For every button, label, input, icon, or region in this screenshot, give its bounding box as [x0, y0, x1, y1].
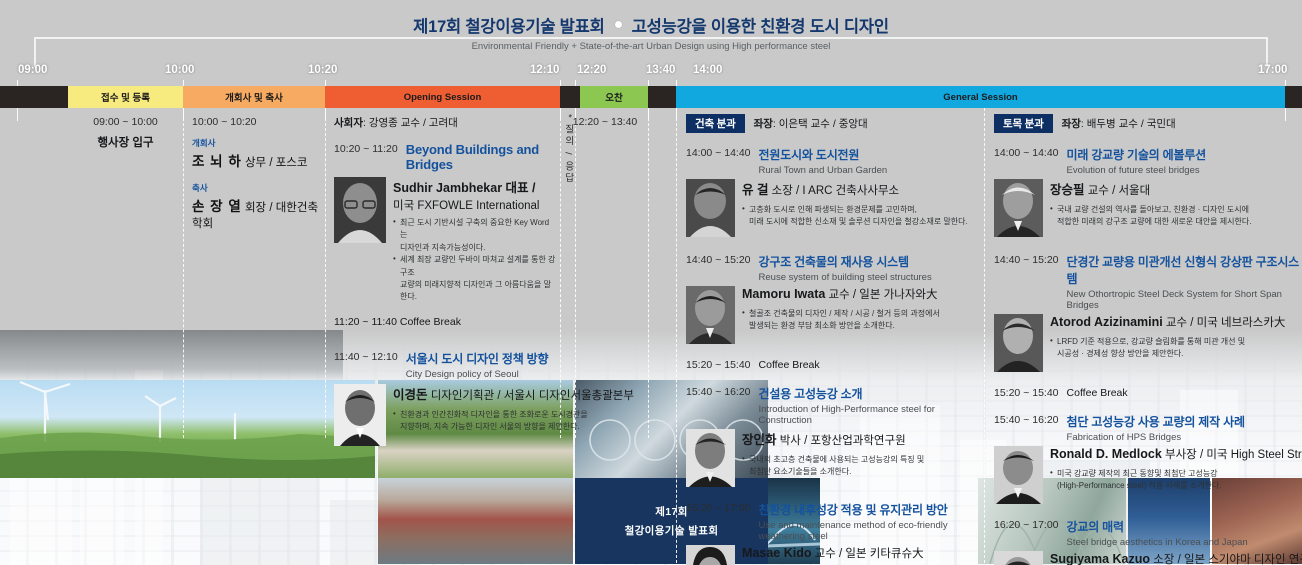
tick-1000: 10:00: [165, 64, 194, 76]
talk-row: 14:40 ~ 15:20 단경간 교량용 미관개선 신형식 강상판 구조시스템…: [994, 253, 1299, 311]
ceremony-time: 10:00 ~ 10:20: [192, 116, 322, 128]
talk-row: 16:20 ~ 17:00 강교의 매력 Steel bridge aesthe…: [994, 518, 1299, 548]
coffee-row: 15:20 ~ 15:40 Coffee Break: [686, 359, 978, 371]
talk-bullets: 국내외 초고층 건축물에 사용되는 고성능강의 특징 및 최첨단 요소기술들을 …: [742, 454, 978, 479]
registration-place: 행사장 입구: [68, 134, 183, 150]
column-lunch: 12:20 ~ 13:40: [580, 108, 648, 128]
talk-time: 14:40 ~ 15:20: [686, 253, 751, 266]
tick-1400: 14:00: [693, 64, 722, 76]
speaker-portrait: [686, 545, 735, 565]
talk-bullets: 친환경과 인간친화적 디자인을 통한 조화로운 도시경관을 지향하며, 지속 가…: [393, 409, 634, 434]
talk-row: 14:40 ~ 15:20 강구조 건축물의 재사용 시스템 Reuse sys…: [686, 253, 978, 283]
column-opening-session: 사회자: 강영종 교수 / 고려대 10:20 ~ 11:20 Beyond B…: [334, 108, 556, 446]
speaker-portrait: [994, 446, 1043, 504]
speaker-portrait: [686, 286, 735, 344]
ceremony-role-2: 축사: [192, 182, 322, 194]
speaker-portrait: [334, 177, 386, 243]
coffee-label: Coffee Break: [1067, 387, 1128, 399]
opening-coffee-break: 11:20 ~ 11:40 Coffee Break: [334, 316, 556, 328]
talk-title-kr: 건설용 고성능강 소개: [759, 385, 978, 402]
civil-chair: 좌장: 배두병 교수 / 국민대: [1062, 116, 1176, 131]
ceremony-role-1: 개회사: [192, 137, 322, 149]
speaker-name: Mamoru Iwata 교수 / 일본 가나자와大: [742, 286, 978, 302]
poster-root: 제17회 철강이용기술 발표회 제17회 철강이용기술 발표회 고성능강을 이용…: [0, 0, 1302, 565]
speaker-portrait: [994, 551, 1043, 565]
talk-title-en: Rural Town and Urban Garden: [759, 165, 888, 176]
talk-time: 15:40 ~ 16:20: [994, 413, 1059, 426]
talk-row: 14:00 ~ 14:40 미래 강교량 기술의 에볼루션 Evolution …: [994, 146, 1299, 176]
column-registration: 09:00 ~ 10:00 행사장 입구: [68, 108, 183, 150]
talk-title-en: City Design policy of Seoul: [406, 369, 549, 380]
tick-1210: 12:10: [530, 64, 559, 76]
bar-general-session[interactable]: General Session: [676, 86, 1285, 108]
lunch-time: 12:20 ~ 13:40: [562, 116, 648, 128]
civil-chip: 토목 분과: [994, 114, 1053, 133]
speaker-name: Sudhir Jambhekar 대표 /: [393, 177, 556, 196]
talk-bullets: 최근 도시 기반시설 구축의 중요한 Key Word는 디자인과 지속가능성이…: [393, 217, 556, 304]
speaker-name: Sugiyama Kazuo 소장 / 일본 스기야마 디자인 연구소: [1050, 551, 1302, 565]
title-left: 제17회 철강이용기술 발표회: [413, 13, 605, 37]
column-opening-ceremony: 10:00 ~ 10:20 개회사 조 뇌 하 상무 / 포스코 축사 손 장 …: [192, 108, 322, 231]
talk-title-en: Use and maintenance method of eco-friend…: [759, 520, 978, 542]
bar-opening-ceremony[interactable]: 개회사 및 축사: [183, 86, 325, 108]
talk-title-kr: Beyond Buildings and Bridges: [406, 142, 556, 172]
talk-title-en: Fabrication of HPS Bridges: [1067, 432, 1245, 443]
speaker-name: 장인화 박사 / 포항산업과학연구원: [742, 429, 978, 448]
tick-1700: 17:00: [1258, 64, 1287, 76]
tick-1340: 13:40: [646, 64, 675, 76]
speaker-portrait: [686, 179, 735, 237]
speaker-name: 이경돈 디자인기획관 / 서울시 디자인서울총괄본부: [393, 384, 634, 403]
talk-time: 14:00 ~ 14:40: [686, 146, 751, 159]
time-ruler: 09:00 10:00 10:20 12:10 12:20 13:40 14:0…: [0, 64, 1302, 86]
speaker-portrait: [686, 429, 735, 487]
talk-body: Atorod Azizinamini 교수 / 미국 네브라스카大 LRFD 기…: [994, 314, 1299, 372]
ceremony-person-1: 조 뇌 하 상무 / 포스코: [192, 150, 322, 170]
talk-bullets: LRFD 기준 적용으로, 강교량 슬림화를 통해 미관 개선 및 시공성 · …: [1050, 336, 1299, 361]
speaker-name: Ronald D. Medlock 부사장 / 미국 High Steel St…: [1050, 446, 1302, 462]
talk-bullets: 국내 교량 건설의 역사를 돌아보고, 친환경 · 디자인 도시에 적합한 미래…: [1050, 204, 1299, 229]
speaker-name: 장승필 교수 / 서울대: [1050, 179, 1299, 198]
talk-title-en: Evolution of future steel bridges: [1067, 165, 1206, 176]
speaker-name: 유 걸 소장 / I ARC 건축사사무소: [742, 179, 978, 198]
talk-time: 16:20 ~ 17:00: [994, 518, 1059, 531]
photo-wind-farm: [0, 380, 375, 478]
coffee-time: 15:20 ~ 15:40: [686, 359, 751, 371]
architecture-chip: 건축 분과: [686, 114, 745, 133]
tick-1020: 10:20: [308, 64, 337, 76]
tick-1220: 12:20: [577, 64, 606, 76]
bar-opening-session[interactable]: Opening Session: [325, 86, 560, 108]
talk-time: 16:20 ~ 17:00: [686, 501, 751, 514]
talk-bullets: 고층화 도시로 인해 파생되는 환경문제를 고민하며, 미래 도시에 적합한 신…: [742, 204, 978, 229]
track-architecture: 건축 분과 좌장: 이은택 교수 / 중앙대 14:00 ~ 14:40 전원도…: [686, 108, 978, 565]
tick-0900: 09:00: [18, 64, 47, 76]
talk-time: 15:40 ~ 16:20: [686, 385, 751, 398]
bar-registration[interactable]: 접수 및 등록: [68, 86, 183, 108]
talk-title-en: Steel bridge aesthetics in Korea and Jap…: [1067, 537, 1248, 548]
talk-time: 11:40 ~ 12:10: [334, 350, 398, 363]
talk-body: Masae Kido 교수 / 일본 키타큐슈大 일본의 내후성강 적용 건축물…: [686, 545, 978, 565]
talk-title-en: Reuse system of building steel structure…: [759, 272, 932, 283]
speaker-name: Masae Kido 교수 / 일본 키타큐슈大: [742, 545, 978, 561]
talk-row: 16:20 ~ 17:00 친환경 내후성강 적용 및 유지관리 방안 Use …: [686, 501, 978, 542]
talk-time: 14:40 ~ 15:20: [994, 253, 1059, 266]
title-right: 고성능강을 이용한 친환경 도시 디자인: [632, 13, 889, 37]
talk-title-kr: 강구조 건축물의 재사용 시스템: [759, 253, 932, 270]
talk-title-kr: 미래 강교량 기술의 에볼루션: [1067, 146, 1206, 163]
speaker-name: Atorod Azizinamini 교수 / 미국 네브라스카大: [1050, 314, 1299, 330]
talk-body: Sudhir Jambhekar 대표 / 미국 FXFOWLE Interna…: [334, 177, 556, 304]
coffee-label: Coffee Break: [759, 359, 820, 371]
page-subtitle: Environmental Friendly + State-of-the-ar…: [462, 41, 841, 52]
talk-row: 15:40 ~ 16:20 건설용 고성능강 소개 Introduction o…: [686, 385, 978, 426]
talk-title-kr: 서울시 도시 디자인 정책 방향: [406, 350, 549, 367]
speaker-portrait: [334, 384, 386, 446]
speaker-portrait: [994, 314, 1043, 372]
coffee-time: 15:20 ~ 15:40: [994, 387, 1059, 399]
talk-title-en: New Othortropic Steel Deck System for Sh…: [1067, 289, 1299, 311]
opening-host: 사회자: 강영종 교수 / 고려대: [334, 115, 556, 130]
architecture-header: 건축 분과 좌장: 이은택 교수 / 중앙대: [686, 114, 978, 133]
talk-title-kr: 전원도시와 도시전원: [759, 146, 888, 163]
talk-row: 15:40 ~ 16:20 첨단 고성능강 사용 교량의 제작 사례 Fabri…: [994, 413, 1299, 443]
talk-row: 10:20 ~ 11:20 Beyond Buildings and Bridg…: [334, 142, 556, 172]
speaker-portrait: [994, 179, 1043, 237]
speaker-affiliation: 미국 FXFOWLE International: [393, 197, 556, 213]
talk-title-kr: 친환경 내후성강 적용 및 유지관리 방안: [759, 501, 978, 518]
coffee-row: 15:20 ~ 15:40 Coffee Break: [994, 387, 1299, 399]
page-title: 제17회 철강이용기술 발표회 고성능강을 이용한 친환경 도시 디자인: [399, 13, 903, 37]
talk-time: 10:20 ~ 11:20: [334, 142, 398, 155]
bullet-dot-icon: [614, 20, 623, 29]
talk-title-kr: 단경간 교량용 미관개선 신형식 강상판 구조시스템: [1067, 253, 1299, 287]
header: 제17회 철강이용기술 발표회 고성능강을 이용한 친환경 도시 디자인 Env…: [0, 0, 1302, 64]
talk-title-kr: 강교의 매력: [1067, 518, 1248, 535]
civil-header: 토목 분과 좌장: 배두병 교수 / 국민대: [994, 114, 1299, 133]
talk-row: 11:40 ~ 12:10 서울시 도시 디자인 정책 방향 City Desi…: [334, 350, 556, 380]
logo-line-1: 제17회: [655, 504, 688, 519]
talk-body: Ronald D. Medlock 부사장 / 미국 High Steel St…: [994, 446, 1299, 504]
bar-lunch[interactable]: 오찬: [580, 86, 648, 108]
background-dark-strip: [0, 330, 343, 382]
talk-row: 14:00 ~ 14:40 전원도시와 도시전원 Rural Town and …: [686, 146, 978, 176]
talk-body: 이경돈 디자인기획관 / 서울시 디자인서울총괄본부 친환경과 인간친화적 디자…: [334, 384, 556, 446]
talk-body: Sugiyama Kazuo 소장 / 일본 스기야마 디자인 연구소 부재의 …: [994, 551, 1299, 565]
registration-time: 09:00 ~ 10:00: [68, 116, 183, 128]
talk-body: 장승필 교수 / 서울대 국내 교량 건설의 역사를 돌아보고, 친환경 · 디…: [994, 179, 1299, 237]
talk-bullets: 철골조 건축물의 디자인 / 제작 / 시공 / 철거 등의 과정에서 발생되는…: [742, 308, 978, 333]
ceremony-person-2: 손 장 열 회장 / 대한건축학회: [192, 195, 322, 231]
talk-body: 유 걸 소장 / I ARC 건축사사무소 고층화 도시로 인해 파생되는 환경…: [686, 179, 978, 237]
talk-bullets: 미국 강교량 제작의 최근 동향및 최첨단 고성능강 (High-Perform…: [1050, 468, 1302, 493]
track-civil: 토목 분과 좌장: 배두병 교수 / 국민대 14:00 ~ 14:40 미래 …: [994, 108, 1299, 565]
talk-title-en: Introduction of High-Performance steel f…: [759, 404, 978, 426]
talk-body: Mamoru Iwata 교수 / 일본 가나자와大 철골조 건축물의 디자인 …: [686, 286, 978, 344]
talk-time: 14:00 ~ 14:40: [994, 146, 1059, 159]
photo-street-scene: [378, 478, 573, 564]
talk-title-kr: 첨단 고성능강 사용 교량의 제작 사례: [1067, 413, 1245, 430]
talk-body: 장인화 박사 / 포항산업과학연구원 국내외 초고층 건축물에 사용되는 고성능…: [686, 429, 978, 487]
architecture-chair: 좌장: 이은택 교수 / 중앙대: [754, 116, 868, 131]
